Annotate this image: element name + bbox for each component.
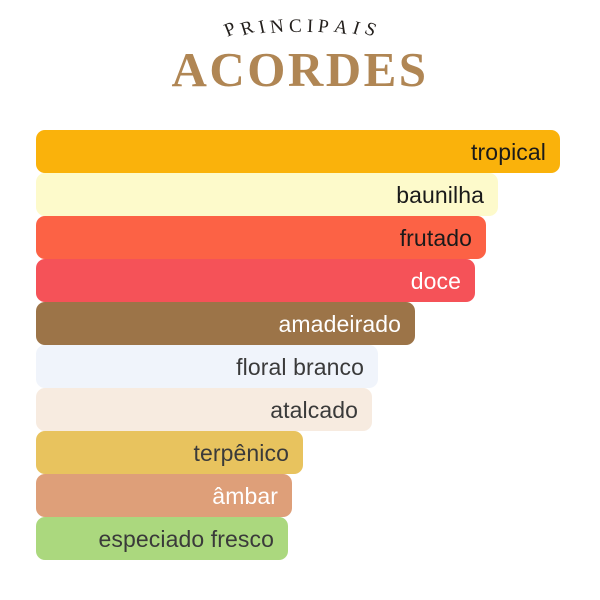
accord-bar[interactable]: especiado fresco — [36, 517, 288, 560]
accord-bar-label: doce — [411, 268, 461, 294]
accord-bar-chart: tropicalbaunilhafrutadodoceamadeiradoflo… — [36, 130, 576, 560]
accord-bar-label: atalcado — [270, 397, 358, 423]
accord-bar-label: âmbar — [212, 483, 278, 509]
accord-bar[interactable]: âmbar — [36, 474, 292, 517]
accord-bar-label: especiado fresco — [99, 526, 274, 552]
accord-bar[interactable]: doce — [36, 259, 475, 302]
infographic-page: PRINCIPAIS ACORDES tropicalbaunilhafruta… — [0, 0, 600, 600]
accord-bar[interactable]: terpênico — [36, 431, 303, 474]
kicker-letter: R — [238, 17, 257, 42]
accord-bar[interactable]: amadeirado — [36, 302, 415, 345]
accord-bar-label: terpênico — [193, 440, 289, 466]
accord-bar-label: tropical — [471, 139, 546, 165]
accord-bar[interactable]: tropical — [36, 130, 560, 173]
header: PRINCIPAIS ACORDES — [0, 0, 600, 122]
page-title: ACORDES — [0, 44, 600, 96]
accord-bar-label: baunilha — [396, 182, 484, 208]
kicker-letter: I — [256, 17, 267, 40]
kicker-letter: N — [269, 16, 285, 40]
kicker-letter: I — [306, 16, 313, 38]
kicker-letter: A — [332, 16, 350, 40]
kicker-letter: S — [361, 18, 379, 42]
kicker-letter: P — [221, 18, 239, 42]
accord-bar[interactable]: atalcado — [36, 388, 372, 431]
accord-bar-label: floral branco — [236, 354, 364, 380]
accord-bar-label: frutado — [400, 225, 472, 251]
kicker-letter: C — [288, 16, 302, 39]
accord-bar[interactable]: baunilha — [36, 173, 498, 216]
accord-bar-label: amadeirado — [279, 311, 401, 337]
kicker-letter: P — [317, 16, 330, 39]
accord-bar[interactable]: floral branco — [36, 345, 378, 388]
accord-bar[interactable]: frutado — [36, 216, 486, 259]
